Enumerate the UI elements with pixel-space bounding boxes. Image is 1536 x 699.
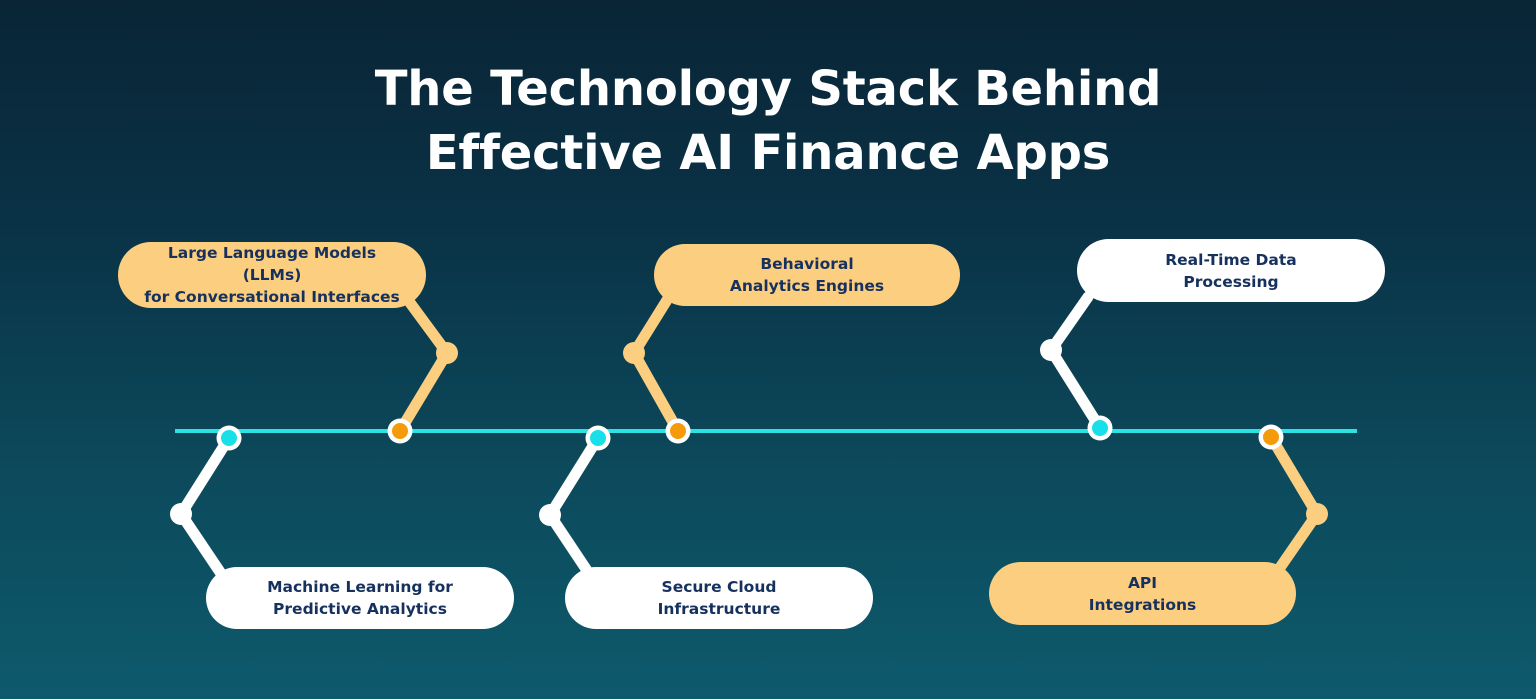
node-label-api-integrations[interactable]: APIIntegrations: [989, 562, 1296, 625]
node-label-text-llm-conversational: Large Language Models (LLMs)for Conversa…: [140, 242, 404, 308]
timeline-dot-llm-conversational[interactable]: [392, 423, 408, 439]
connector-elbow-behavioral-analytics: [623, 342, 645, 364]
infographic-canvas: The Technology Stack Behind Effective AI…: [0, 0, 1536, 699]
node-label-behavioral-analytics[interactable]: BehavioralAnalytics Engines: [654, 244, 960, 306]
node-label-line-1: Large Language Models (LLMs): [140, 242, 404, 286]
connector-elbow-secure-cloud-infrastructure: [539, 504, 561, 526]
node-label-text-api-integrations: APIIntegrations: [1089, 572, 1197, 616]
timeline-dot-real-time-data[interactable]: [1092, 420, 1108, 436]
connector-elbow-llm-conversational: [436, 342, 458, 364]
connector-llm-conversational: [400, 300, 447, 431]
node-label-machine-learning-predictive[interactable]: Machine Learning forPredictive Analytics: [206, 567, 514, 629]
node-label-text-machine-learning-predictive: Machine Learning forPredictive Analytics: [267, 576, 453, 620]
connector-elbow-api-integrations: [1306, 503, 1328, 525]
node-label-line-2: Analytics Engines: [730, 275, 884, 297]
node-label-line-2: Processing: [1165, 271, 1297, 293]
connector-behavioral-analytics: [634, 300, 678, 431]
node-label-text-secure-cloud-infrastructure: Secure CloudInfrastructure: [658, 576, 781, 620]
timeline-dot-behavioral-analytics[interactable]: [670, 423, 686, 439]
node-label-line-2: Integrations: [1089, 594, 1197, 616]
timeline-dot-api-integrations[interactable]: [1263, 429, 1279, 445]
node-label-real-time-data[interactable]: Real-Time DataProcessing: [1077, 239, 1385, 302]
timeline-dot-secure-cloud-infrastructure[interactable]: [590, 430, 606, 446]
connector-real-time-data: [1051, 297, 1100, 428]
node-label-line-1: Behavioral: [730, 253, 884, 275]
node-label-text-behavioral-analytics: BehavioralAnalytics Engines: [730, 253, 884, 297]
node-label-line-2: for Conversational Interfaces: [140, 286, 404, 308]
connector-elbow-machine-learning-predictive: [170, 503, 192, 525]
node-label-line-2: Predictive Analytics: [267, 598, 453, 620]
node-label-line-1: API: [1089, 572, 1197, 594]
connector-elbow-real-time-data: [1040, 339, 1062, 361]
node-label-line-1: Machine Learning for: [267, 576, 453, 598]
node-label-secure-cloud-infrastructure[interactable]: Secure CloudInfrastructure: [565, 567, 873, 629]
node-label-line-1: Secure Cloud: [658, 576, 781, 598]
node-label-line-2: Infrastructure: [658, 598, 781, 620]
node-label-llm-conversational[interactable]: Large Language Models (LLMs)for Conversa…: [118, 242, 426, 308]
connector-api-integrations: [1271, 437, 1317, 572]
node-label-line-1: Real-Time Data: [1165, 249, 1297, 271]
timeline-dot-machine-learning-predictive[interactable]: [221, 430, 237, 446]
connector-secure-cloud-infrastructure: [550, 438, 598, 575]
node-label-text-real-time-data: Real-Time DataProcessing: [1165, 249, 1297, 293]
